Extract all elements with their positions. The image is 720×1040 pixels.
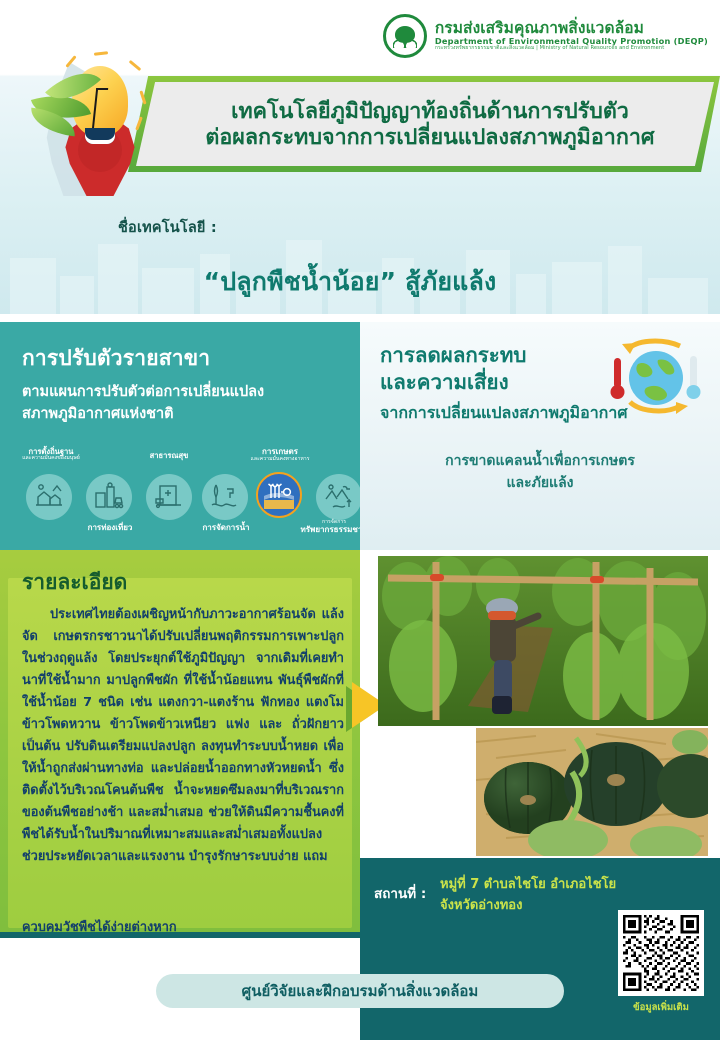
sector-icon-tourism-city-car-icon[interactable] <box>86 474 132 520</box>
sector-icon-agriculture-wheat-field-icon[interactable] <box>256 472 302 518</box>
location-line1: หมู่ที่ 7 ตำบลไชโย อำเภอไชโย <box>440 874 640 895</box>
water-management-river-tap-icon <box>209 481 241 513</box>
technology-label: ชื่อเทคโนโลยี : <box>118 216 217 239</box>
sector-icon-settlement-houses-icon[interactable] <box>26 474 72 520</box>
qr-code-matrix <box>623 915 699 991</box>
sector-icon-natural-resources-mountain-icon[interactable] <box>316 474 362 520</box>
ray-icon <box>65 55 76 68</box>
ray-icon <box>94 51 108 55</box>
settlement-houses-icon <box>33 481 65 513</box>
sector-caption-3: การจัดการน้ำ <box>184 524 268 533</box>
sector-caption-2: สาธารณสุข <box>130 452 208 460</box>
agriculture-wheat-field-icon <box>262 478 296 512</box>
location-value: หมู่ที่ 7 ตำบลไชโย อำเภอไชโย จังหวัดอ่าง… <box>440 874 640 917</box>
globe-arrows-svg <box>606 336 702 420</box>
bulb-base-icon <box>85 128 115 144</box>
globe-thermometer-climate-icon <box>606 336 702 420</box>
sector-icon-water-management-river-tap-icon[interactable] <box>202 474 248 520</box>
detail-title: รายละเอียด <box>22 566 127 599</box>
page-title-line1: เทคโนโลยีภูมิปัญญาท้องถิ่นด้านการปรับตัว <box>231 99 629 125</box>
sector-panel-heading: การปรับตัวรายสาขา <box>22 342 342 375</box>
photo-2-illustration <box>476 728 708 856</box>
footer-banner: ศูนย์วิจัยและฝึกอบรมด้านสิ่งแวดล้อม <box>156 974 564 1008</box>
mitigation-panel: การลดผลกระทบ และความเสี่ยง จากการเปลี่ยน… <box>360 322 720 550</box>
location-label: สถานที่ : <box>374 882 426 904</box>
tourism-city-car-icon <box>93 481 125 513</box>
farmer-in-cucumber-trellis-field <box>378 556 708 726</box>
mitigation-risk-text: การขาดแคลนน้ำเพื่อการเกษตร และภัยแล้ง <box>360 450 720 495</box>
detail-body-text: ประเทศไทยต้องเผชิญหน้ากับภาวะอากาศร้อนจั… <box>22 604 344 868</box>
green-pumpkins-on-straw-mulch <box>476 728 708 856</box>
sector-caption-1: การท่องเที่ยว <box>68 524 152 533</box>
natural-resources-mountain-icon <box>323 481 355 513</box>
technology-name: “ปลูกพืชน้ำน้อย” สู้ภัยแล้ง <box>0 262 700 302</box>
public-health-hospital-icon <box>153 481 185 513</box>
qr-caption: ข้อมูลเพิ่มเติม <box>612 1000 710 1015</box>
photo-1-illustration <box>378 556 708 726</box>
sector-panel-sub-line1: ตามแผนการปรับตัวต่อการเปลี่ยนแปลง <box>22 382 342 404</box>
ray-icon <box>129 60 142 71</box>
sector-icon-public-health-hospital-icon[interactable] <box>146 474 192 520</box>
poster-root: กรมส่งเสริมคุณภาพสิ่งแวดล้อม Department … <box>0 0 720 1040</box>
location-line2: จังหวัดอ่างทอง <box>440 895 640 916</box>
risk-line2: และภัยแล้ง <box>360 472 720 494</box>
ray-icon <box>135 116 143 130</box>
footer-label: ศูนย์วิจัยและฝึกอบรมด้านสิ่งแวดล้อม <box>242 979 479 1003</box>
qr-code-icon[interactable] <box>618 910 704 996</box>
sector-panel-sub-line2: สภาพภูมิอากาศแห่งชาติ <box>22 404 342 426</box>
risk-line1: การขาดแคลนน้ำเพื่อการเกษตร <box>360 450 720 472</box>
sector-caption-0: การตั้งถิ่นฐาน และความมั่นคงของมนุษย์ <box>8 448 94 462</box>
page-title-line2: ต่อผลกระทบจากการเปลี่ยนแปลงสภาพภูมิอากาศ <box>205 125 654 151</box>
sector-icon-row: การตั้งถิ่นฐาน และความมั่นคงของมนุษย์ กา… <box>6 448 358 548</box>
page-title: เทคโนโลยีภูมิปัญญาท้องถิ่นด้านการปรับตัว… <box>150 86 710 164</box>
sector-caption-4: การเกษตร และความมั่นคงทางอาหาร <box>234 448 326 462</box>
ray-icon <box>139 90 146 104</box>
